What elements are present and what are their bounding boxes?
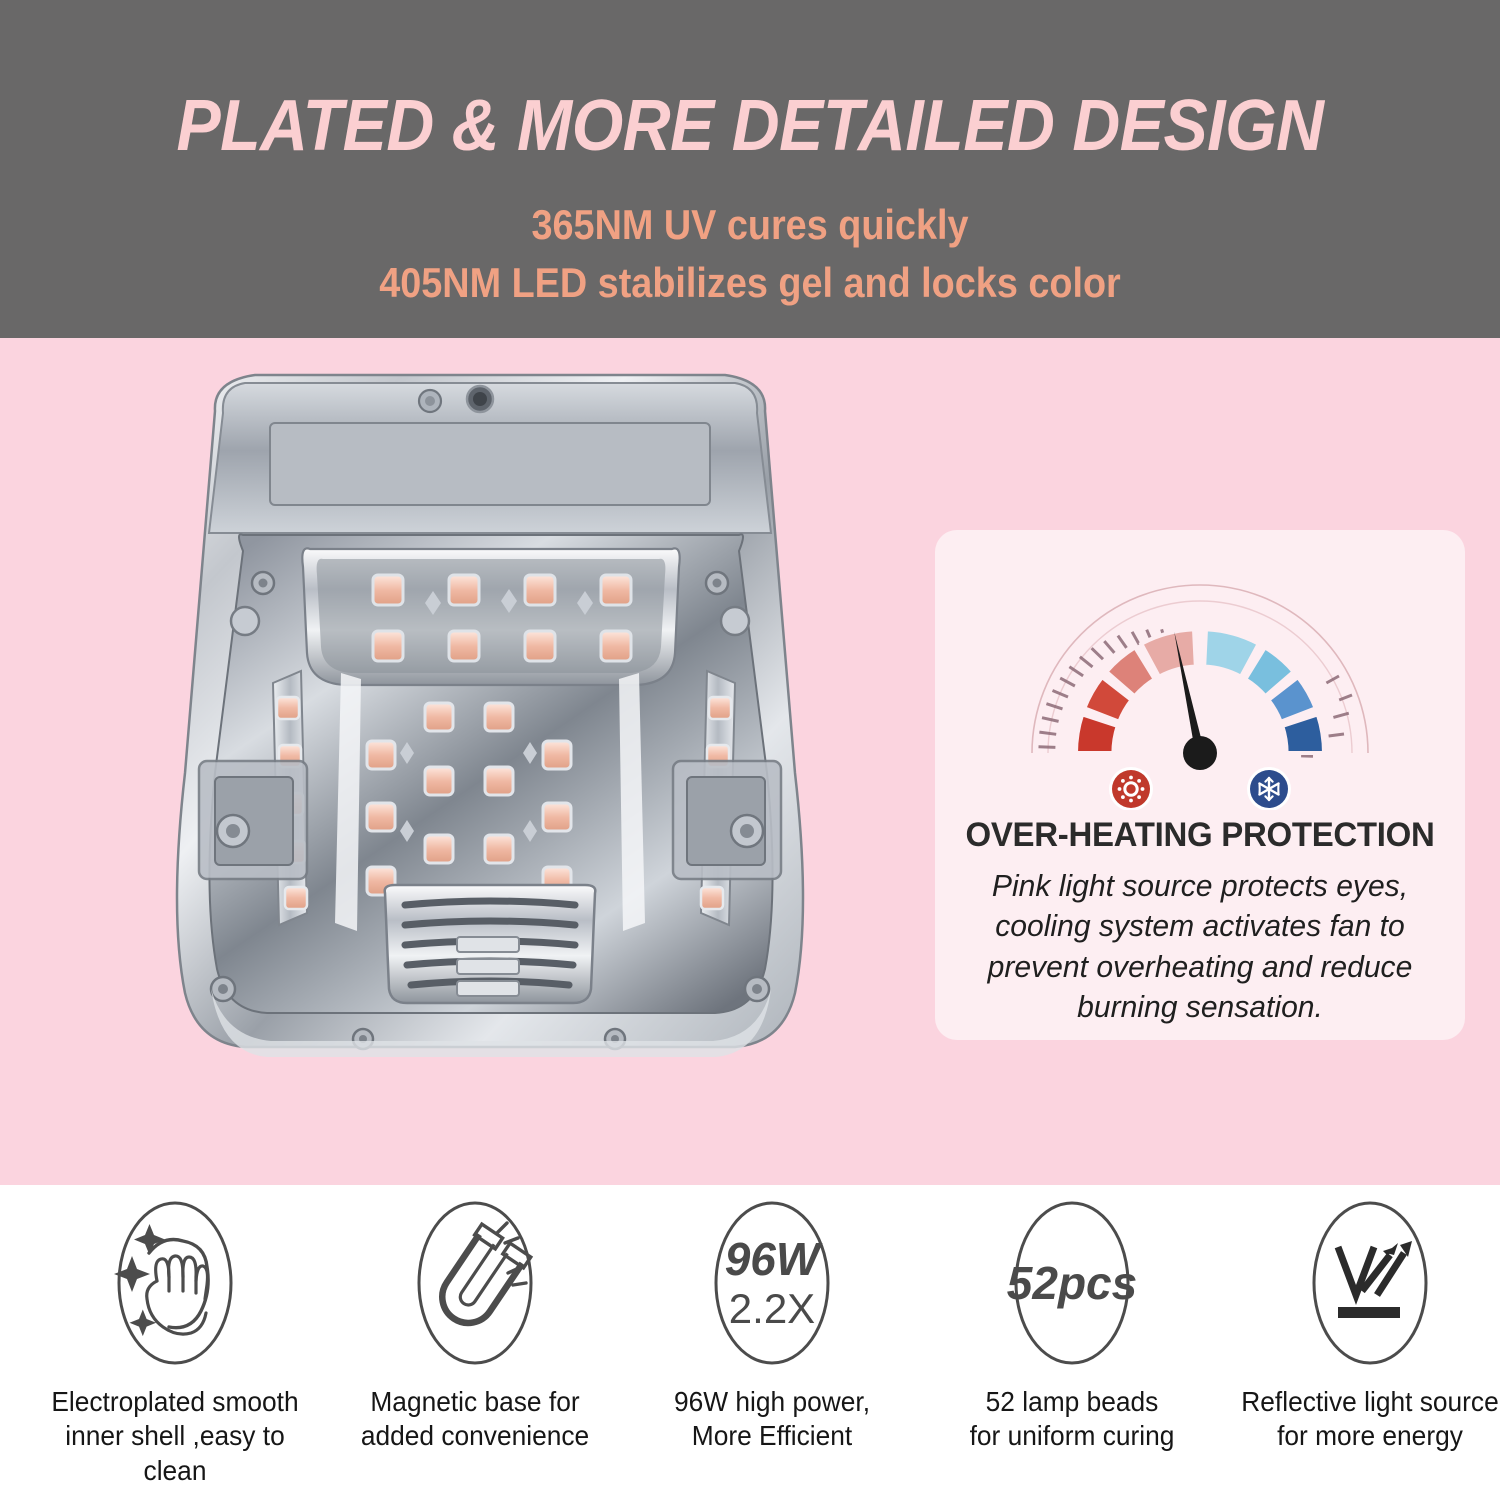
page-title: PLATED & MORE DETAILED DESIGN [60,90,1440,162]
card-description: Pink light source protects eyes, cooling… [964,866,1435,1027]
feature-item-magnetic-base: Magnetic base for added convenience [325,1185,625,1478]
feature-caption: 96W high power, More Efficient [631,1385,913,1454]
snowflake-icon [1247,767,1291,810]
feature-item-reflective-light: Reflective light source for more energy [1220,1185,1500,1478]
feature-item-electroplated-shell: Electroplated smooth inner shell ,easy t… [25,1185,325,1478]
power-value: 96W [725,1233,823,1285]
sun-icon [1109,767,1153,810]
feature-strip: Electroplated smooth inner shell ,easy t… [0,1185,1500,1478]
feature-caption: Reflective light source for more energy [1229,1385,1500,1454]
feature-item-lamp-beads: 52pcs 52 lamp beads for uniform curing [922,1185,1222,1478]
reflective-light-arrows-icon [1282,1195,1458,1371]
feature-item-power: 96W 2.2X 96W high power, More Efficient [622,1185,922,1478]
hand-sparkle-clean-icon [87,1195,263,1371]
feature-caption: 52 lamp beads for uniform curing [931,1385,1213,1454]
power-multiplier: 2.2X [729,1285,815,1332]
over-heating-protection-card: OVER-HEATING PROTECTION Pink light sourc… [935,530,1465,1040]
lamp-bead-count-icon: 52pcs [984,1195,1160,1371]
header-subtitle-line-1: 365NM UV cures quickly [75,204,1425,246]
card-title: OVER-HEATING PROTECTION [943,816,1457,855]
feature-caption: Electroplated smooth inner shell ,easy t… [34,1385,316,1488]
product-showcase-section: OVER-HEATING PROTECTION Pink light sourc… [0,338,1500,1185]
header-banner: PLATED & MORE DETAILED DESIGN 365NM UV c… [0,0,1500,338]
product-image [95,353,885,1073]
gauge-container [935,548,1465,810]
nail-lamp-illustration [95,353,885,1073]
feature-caption: Magnetic base for added convenience [334,1385,616,1454]
header-subtitle-line-2: 405NM LED stabilizes gel and locks color [75,262,1425,304]
temperature-gauge-icon [935,548,1465,810]
power-rating-icon: 96W 2.2X [684,1195,860,1371]
bead-count-value: 52pcs [1007,1257,1137,1309]
horseshoe-magnet-icon [387,1195,563,1371]
